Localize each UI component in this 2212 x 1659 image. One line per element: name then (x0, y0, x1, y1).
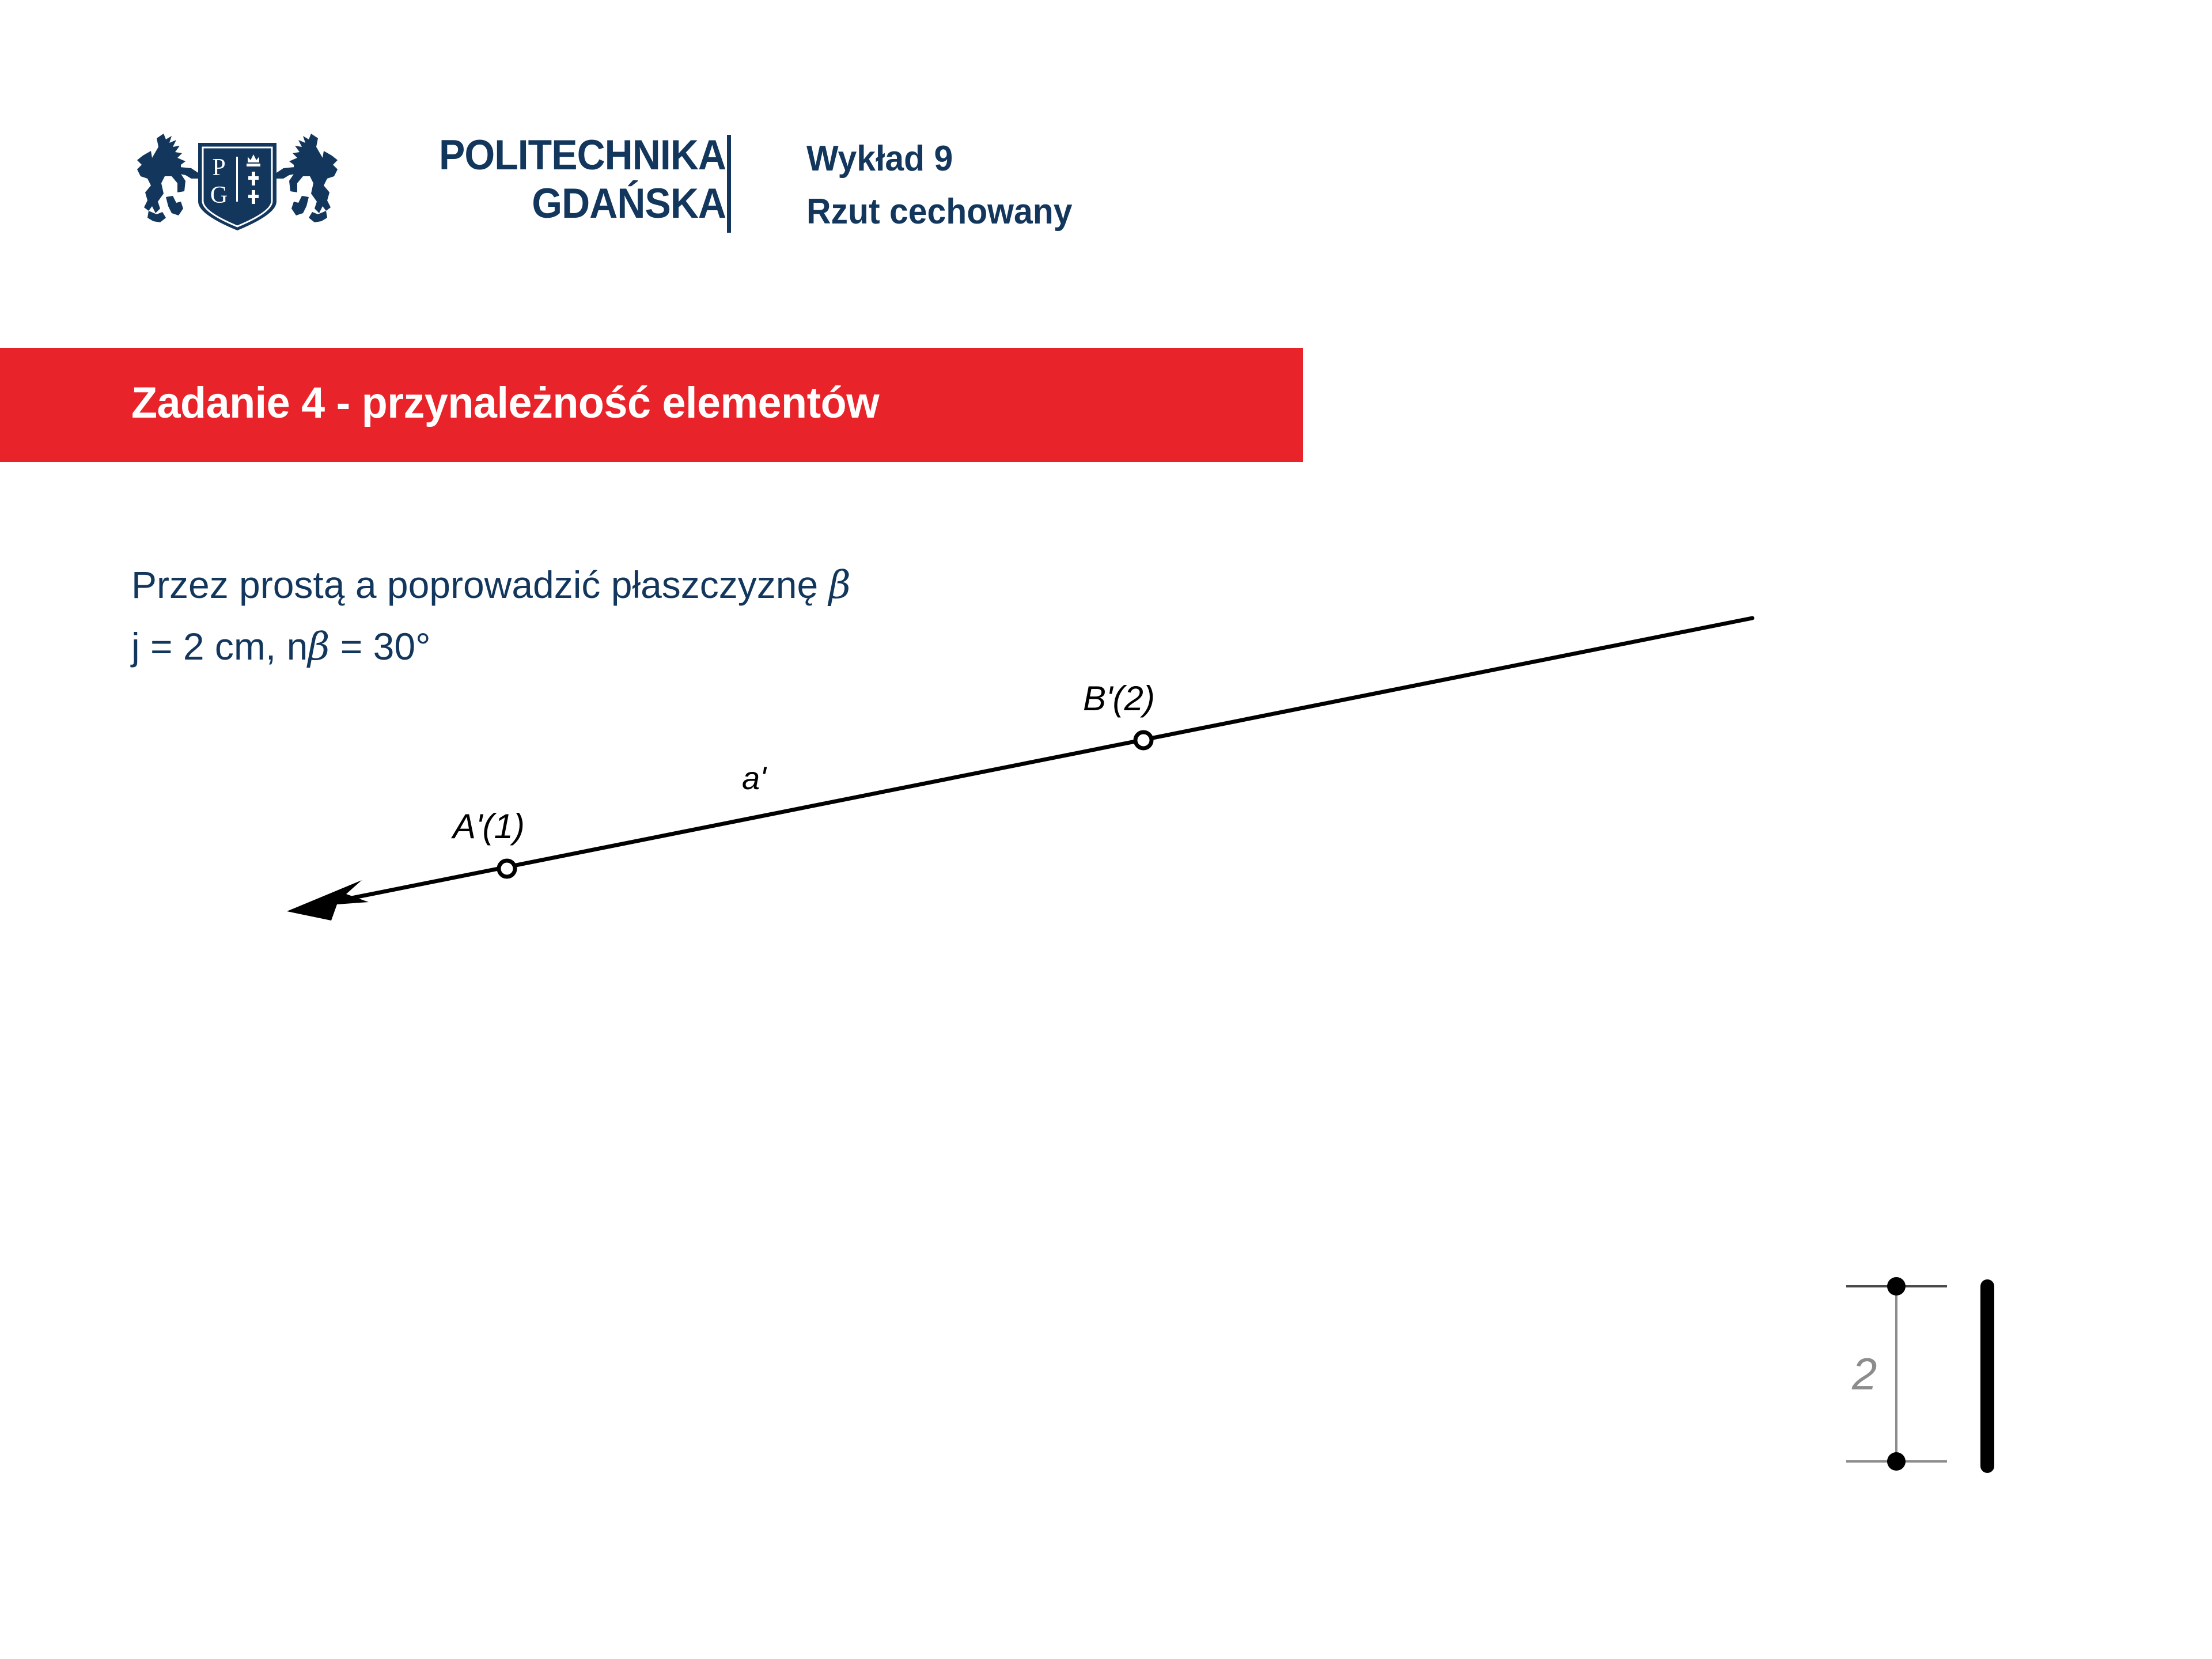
problem-line-1: Przez prostą a poprowadzić płaszczyznę β (131, 554, 851, 616)
problem-line-2-suffix: = 30° (329, 625, 430, 668)
header-vertical-divider (727, 135, 731, 233)
dimension-dot-bottom (1887, 1452, 1906, 1471)
lecture-number: Wykład 9 (806, 132, 1072, 185)
problem-statement: Przez prostą a poprowadzić płaszczyznę β… (131, 554, 851, 677)
wordmark-line-2: GDAŃSKA (393, 180, 726, 228)
politechnika-gdanska-coat-of-arms-icon: P G (131, 121, 343, 241)
lecture-heading: Wykład 9 Rzut cechowany (806, 132, 1072, 238)
dimension-dot-top (1887, 1277, 1906, 1296)
arrowhead-icon (287, 880, 369, 921)
point-marker-b (1135, 732, 1152, 748)
page-header: P G POLITECHNIKA GDAŃSKA Wykład 9 Rzut (0, 0, 2212, 346)
lecture-topic: Rzut cechowany (806, 185, 1072, 238)
point-marker-a (499, 861, 515, 877)
task-title-banner: Zadanie 4 - przynależność elementów (0, 348, 1303, 462)
beta-symbol-2: β (308, 624, 329, 669)
problem-line-2-prefix: j = 2 cm, n (131, 625, 308, 668)
beta-symbol-1: β (829, 563, 851, 607)
line-label-a-prime: a' (742, 759, 766, 797)
university-wordmark: POLITECHNIKA GDAŃSKA (393, 131, 726, 228)
svg-text:G: G (210, 182, 228, 209)
wordmark-line-1: POLITECHNIKA (393, 131, 726, 180)
scale-bar-value: 2 (1852, 1348, 1877, 1400)
problem-line-2: j = 2 cm, nβ = 30° (131, 616, 851, 677)
point-label-a-prime: A'(1) (453, 806, 525, 846)
problem-line-1-text: Przez prostą a poprowadzić płaszczyznę (131, 563, 829, 606)
point-label-b-prime: B'(2) (1083, 679, 1155, 718)
task-title: Zadanie 4 - przynależność elementów (131, 373, 879, 433)
svg-text:P: P (212, 154, 225, 181)
